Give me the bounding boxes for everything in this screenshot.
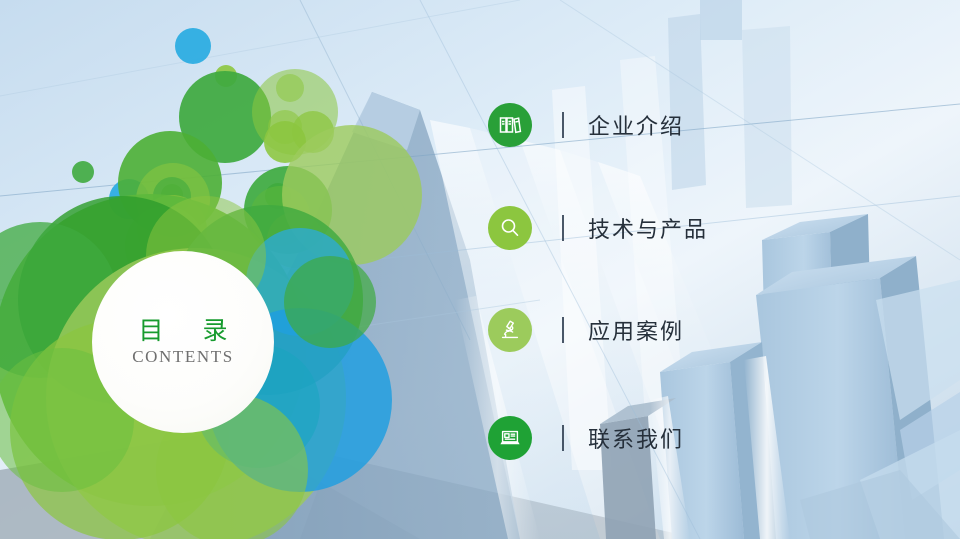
menu-separator [562,215,564,241]
agenda-menu: 企业介绍 技术与产品 [488,0,908,539]
circle-green-xs [72,161,94,183]
menu-item-label: 技术与产品 [588,212,708,244]
binders-icon [488,103,532,147]
contents-badge: 目 录 CONTENTS [92,251,274,433]
menu-item-contact-us[interactable]: 联系我们 [488,416,684,460]
circle-blue-small [175,28,211,64]
presentation-slide: 目 录 CONTENTS 企业介绍 [0,0,960,539]
contents-title-en: CONTENTS [132,347,234,367]
menu-item-label: 企业介绍 [588,109,684,141]
circle-lightgreen-xs3 [276,74,304,102]
menu-item-tech-products[interactable]: 技术与产品 [488,206,708,250]
microscope-icon [488,308,532,352]
laptop-icon [488,416,532,460]
menu-item-label: 应用案例 [588,314,684,346]
menu-separator [562,425,564,451]
magnifier-icon [488,206,532,250]
menu-item-use-cases[interactable]: 应用案例 [488,308,684,352]
menu-item-label: 联系我们 [588,422,684,454]
menu-separator [562,317,564,343]
menu-item-company-intro[interactable]: 企业介绍 [488,103,684,147]
circle-lightgreen-xs2 [268,110,302,144]
menu-separator [562,112,564,138]
contents-title-cn: 目 录 [123,317,244,346]
circle-cluster-green-e [284,256,376,348]
